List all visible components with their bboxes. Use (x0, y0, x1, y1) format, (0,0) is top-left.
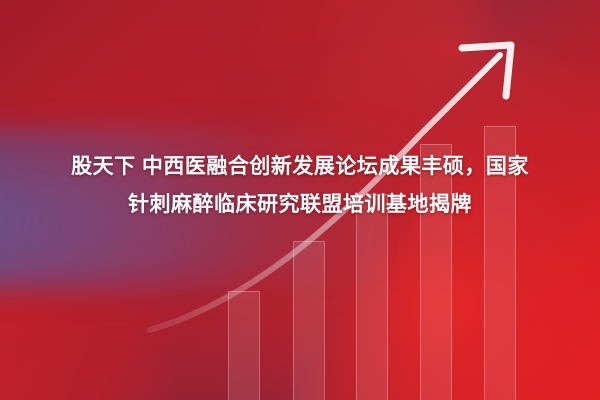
chart-bar-2 (293, 241, 325, 400)
chart-bar-1 (228, 291, 260, 400)
headline-text: 中西医融合创新发展论坛成果丰硕，国家 针刺麻醉临床研究联盟培训基地揭牌 (128, 155, 529, 216)
banner-headline: 股天下 中西医融合创新发展论坛成果丰硕，国家 针刺麻醉临床研究联盟培训基地揭牌 (0, 148, 600, 224)
chart-bar-3 (356, 194, 388, 400)
promo-banner: 股天下 中西医融合创新发展论坛成果丰硕，国家 针刺麻醉临床研究联盟培训基地揭牌 (0, 0, 600, 400)
brand-name: 股天下 (71, 155, 136, 178)
